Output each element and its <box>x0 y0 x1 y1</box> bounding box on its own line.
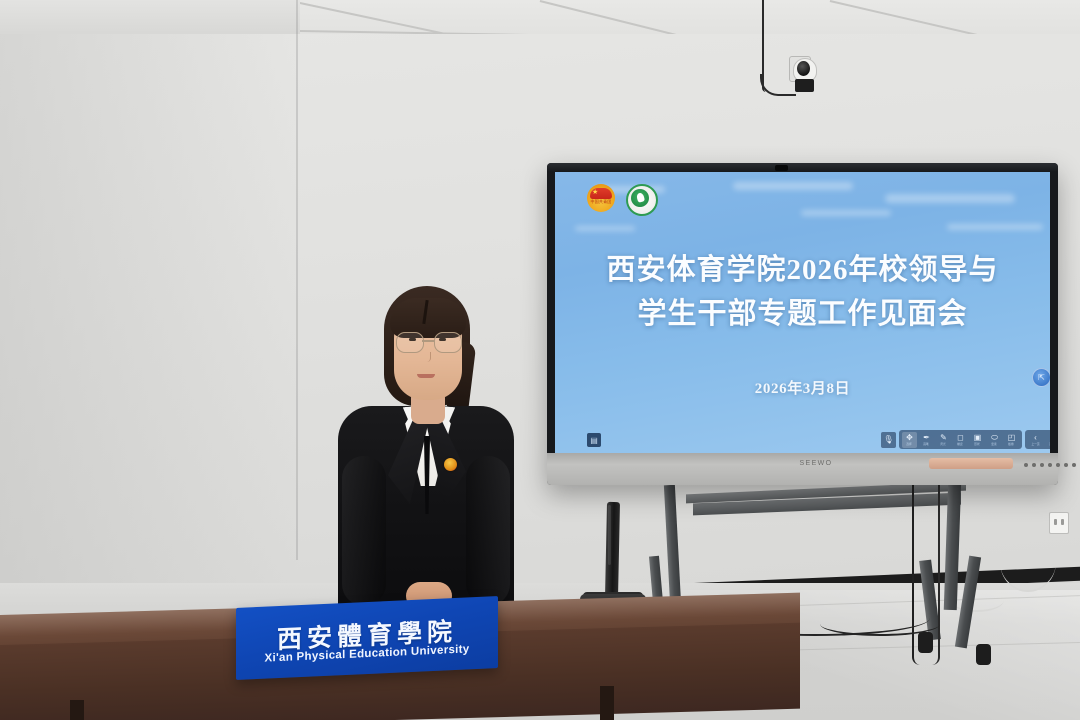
toolbar-button-eraser[interactable]: ◻ 橡皮 <box>953 432 968 448</box>
toolbar-group-navigation[interactable]: ‹ 上一页 ⌗ 页码 › 下一页 <box>1025 430 1050 449</box>
jacket-shading <box>466 456 510 606</box>
outlet-cable <box>1000 532 1056 592</box>
shape-icon: ▣ <box>974 434 982 442</box>
stand-caster <box>976 644 991 665</box>
desk-nameplate: 西安體育學院 Xi'an Physical Education Universi… <box>236 596 498 680</box>
cloud-decoration <box>947 224 1043 230</box>
slide-title-line2: 学生干部专题工作见面会 <box>555 292 1050 336</box>
nose <box>424 352 431 362</box>
wall-shading <box>0 34 300 664</box>
lapel-badge-icon <box>444 458 457 471</box>
toolbar-mic-icon[interactable]: 🎙 <box>881 432 896 448</box>
floating-action-button[interactable]: ⇱ <box>1032 368 1050 387</box>
toolbar-button-page-number[interactable]: ⌗ 页码 <box>1045 432 1050 448</box>
student-speaker <box>332 286 520 616</box>
chevron-left-icon: ‹ <box>1034 434 1037 442</box>
panel-control-buttons[interactable] <box>1024 462 1080 468</box>
stylus-tray[interactable] <box>929 458 1013 469</box>
toolbar-button-board-eraser[interactable]: ◰ 板擦 <box>1004 432 1019 448</box>
stand-caster <box>918 632 933 653</box>
slide-title: 西安体育学院2026年校领导与 学生干部专题工作见面会 <box>555 248 1050 336</box>
annotation-toolbar[interactable]: 🎙 ✥ 选择 ✒ 画笔 ✎ 荧光 ◻ <box>881 430 1050 449</box>
panel-screen[interactable]: ★ 中国共青团 西安体育学院2026年校领导与 学生干部专题工作见面会 2026… <box>555 172 1050 453</box>
jacket-shading <box>342 456 386 606</box>
toolbar-button-select[interactable]: ✥ 选择 <box>902 432 917 448</box>
slide-emblems: ★ 中国共青团 <box>587 184 658 216</box>
eyeglasses-icon <box>395 332 461 351</box>
desk-leg <box>600 686 614 720</box>
highlighter-icon: ✎ <box>940 434 947 442</box>
pen-icon: ✒ <box>923 434 930 442</box>
toolbar-button-lasso[interactable]: ⬭ 套索 <box>987 432 1002 448</box>
floor-cable <box>820 612 940 636</box>
screen-corner-button[interactable]: ▤ <box>587 433 601 447</box>
microphone-highlight <box>608 505 611 565</box>
camera-base <box>795 79 814 92</box>
meeting-room-scene: ★ 中国共青团 西安体育学院2026年校领导与 学生干部专题工作见面会 2026… <box>0 0 1080 720</box>
university-emblem-icon <box>626 184 658 216</box>
toolbar-group-tools[interactable]: ✥ 选择 ✒ 画笔 ✎ 荧光 ◻ 橡皮 <box>899 430 1022 449</box>
wall-corner <box>296 0 298 560</box>
lasso-icon: ⬭ <box>991 434 998 442</box>
mouth <box>417 374 435 378</box>
toolbar-button-pen[interactable]: ✒ 画笔 <box>919 432 934 448</box>
slide-date: 2026年3月8日 <box>555 377 1050 398</box>
desk-leg <box>70 700 84 720</box>
cloud-decoration <box>733 182 853 190</box>
toolbar-button-prev-page[interactable]: ‹ 上一页 <box>1028 432 1043 448</box>
board-eraser-icon: ◰ <box>1008 434 1016 442</box>
eraser-icon: ◻ <box>957 434 964 442</box>
wall-power-outlet[interactable] <box>1049 512 1069 534</box>
select-icon: ✥ <box>906 434 913 442</box>
panel-top-bezel <box>547 163 1058 172</box>
cloud-decoration <box>575 226 635 231</box>
toolbar-button-shape[interactable]: ▣ 形状 <box>970 432 985 448</box>
communist-youth-league-emblem-icon: ★ 中国共青团 <box>587 184 615 212</box>
slide-title-line1: 西安体育学院2026年校领导与 <box>555 248 1050 292</box>
outlet-cable <box>950 588 1004 612</box>
interactive-flat-panel[interactable]: ★ 中国共青团 西安体育学院2026年校领导与 学生干部专题工作见面会 2026… <box>547 163 1058 485</box>
panel-brand-label: SEEWO <box>789 460 843 469</box>
emblem-text: 中国共青团 <box>587 199 615 205</box>
camera-lens-icon <box>797 61 810 76</box>
panel-webcam-icon <box>775 165 788 171</box>
cloud-decoration <box>885 194 1015 203</box>
toolbar-button-highlighter[interactable]: ✎ 荧光 <box>936 432 951 448</box>
cloud-decoration <box>801 210 891 216</box>
